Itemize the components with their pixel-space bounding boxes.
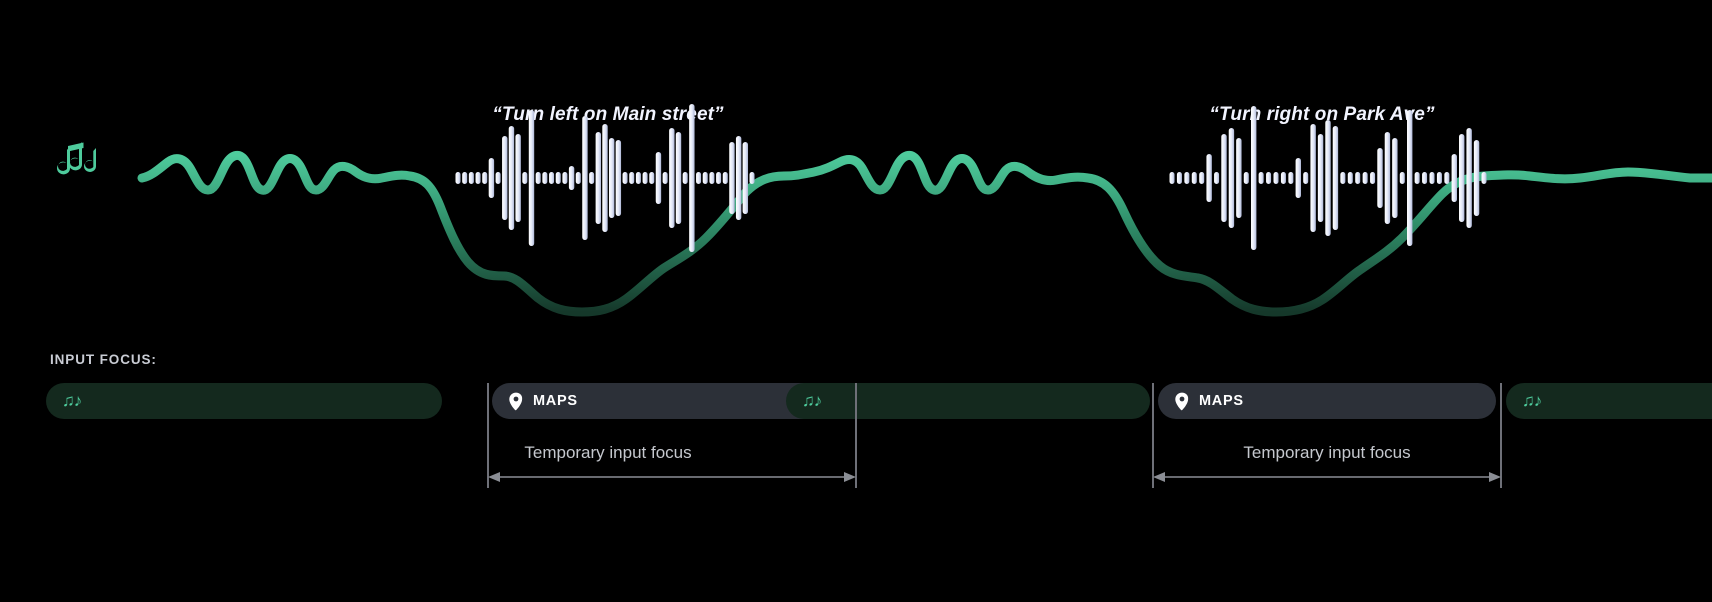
voice-bar [1325, 120, 1330, 236]
voice-bar [743, 142, 748, 214]
voice-bar [1170, 172, 1175, 184]
voice-bar [582, 116, 587, 240]
voice-bar [736, 136, 741, 220]
voice-bar [1199, 172, 1204, 184]
voice-bar [696, 172, 701, 184]
voice-bar [669, 128, 674, 228]
voice-bar [1318, 134, 1323, 222]
pill-maps-label-2: MAPS [1199, 393, 1244, 409]
map-pin-icon [1174, 392, 1190, 411]
voice-bar [515, 134, 520, 222]
voice-bar [1385, 132, 1390, 224]
voice-bar [496, 172, 501, 184]
voice-bar [1281, 172, 1286, 184]
voice-bar [529, 110, 534, 246]
voice-bar [502, 136, 507, 220]
voice-bar [1370, 172, 1375, 184]
voice-bar [556, 172, 561, 184]
voice-bar [623, 172, 628, 184]
voice-bar [703, 172, 708, 184]
voice-bar [729, 142, 734, 214]
voice-bar [1422, 172, 1427, 184]
voice-bar [1184, 172, 1189, 184]
voice-bar [676, 132, 681, 224]
voice-bar [663, 172, 668, 184]
voice-bar [1296, 158, 1301, 198]
voice-bar [1192, 172, 1197, 184]
voice-bar [1221, 134, 1226, 222]
voice-bar [602, 124, 607, 232]
voice-bar [1377, 148, 1382, 208]
music-note-glyph: ♫♪ [62, 392, 81, 409]
voice-bar [1266, 172, 1271, 184]
voice-bar [643, 172, 648, 184]
voice-bar [1355, 172, 1360, 184]
music-note-glyph: ♫♪ [1522, 392, 1541, 409]
voice-bar [1236, 138, 1241, 218]
pill-maps-2[interactable]: MAPS [1158, 383, 1496, 419]
voice-bar [1430, 172, 1435, 184]
voice-bar [1415, 172, 1420, 184]
voice-bar [576, 172, 581, 184]
voice-bar [1310, 124, 1315, 232]
music-note-glyph: ♫♪ [802, 392, 821, 409]
diagram-canvas: “Turn left on Main street” “Turn right o… [0, 0, 1712, 602]
voice-bar [1229, 128, 1234, 228]
pill-music-2[interactable]: ♫♪ [786, 383, 1150, 419]
voice-bar [689, 104, 694, 252]
focus-span-arrow-1 [488, 470, 856, 484]
voice-bar [462, 172, 467, 184]
voice-bar [1452, 154, 1457, 202]
voice-bar [1333, 126, 1338, 230]
voice-bar [1244, 172, 1249, 184]
pill-maps-label-1: MAPS [533, 393, 578, 409]
voice-bar [750, 172, 755, 184]
focus-span-arrow-2 [1153, 470, 1501, 484]
voice-bar [1474, 140, 1479, 216]
voice-bar [723, 172, 728, 184]
voice-bar [562, 172, 567, 184]
voice-bar [1348, 172, 1353, 184]
voice-bar [1437, 172, 1442, 184]
voice-bar [549, 172, 554, 184]
voice-waveform-bars [0, 0, 1712, 340]
voice-bar [629, 172, 634, 184]
voice-bar [569, 166, 574, 190]
voice-bar [716, 172, 721, 184]
voice-bar [1214, 172, 1219, 184]
voice-bar [469, 172, 474, 184]
voice-bar [1400, 172, 1405, 184]
voice-bar [649, 172, 654, 184]
voice-bar [1392, 138, 1397, 218]
voice-bar [542, 172, 547, 184]
voice-bar [509, 126, 514, 230]
voice-bar [636, 172, 641, 184]
voice-bar [656, 152, 661, 204]
temporary-focus-annotation-1: Temporary input focus [524, 443, 691, 463]
voice-bar [522, 172, 527, 184]
voice-bar [1303, 172, 1308, 184]
voice-bar [609, 138, 614, 218]
voice-bar [1274, 172, 1279, 184]
voice-bar [1459, 134, 1464, 222]
voice-bar [456, 172, 461, 184]
voice-bar [1407, 110, 1412, 246]
voice-bar [482, 172, 487, 184]
input-focus-label: INPUT FOCUS: [50, 352, 157, 367]
voice-bar [489, 158, 494, 198]
temporary-focus-annotation-2: Temporary input focus [1243, 443, 1410, 463]
voice-bar [596, 132, 601, 224]
voice-bar [476, 172, 481, 184]
voice-bar [536, 172, 541, 184]
voice-bar [1363, 172, 1368, 184]
pill-music-1[interactable]: ♫♪ [46, 383, 442, 419]
voice-bar [1482, 172, 1487, 184]
voice-bar [1251, 106, 1256, 250]
voice-bar [1288, 172, 1293, 184]
map-pin-icon [508, 392, 524, 411]
voice-bar [1259, 172, 1264, 184]
voice-bar [589, 172, 594, 184]
voice-bar [1444, 172, 1449, 184]
voice-bar [1466, 128, 1471, 228]
voice-bar [709, 172, 714, 184]
voice-bar [1206, 154, 1211, 202]
voice-bar [683, 172, 688, 184]
voice-bar [1340, 172, 1345, 184]
voice-bar [1177, 172, 1182, 184]
voice-bar [616, 140, 621, 216]
pill-music-3[interactable]: ♫♪ [1506, 383, 1712, 419]
